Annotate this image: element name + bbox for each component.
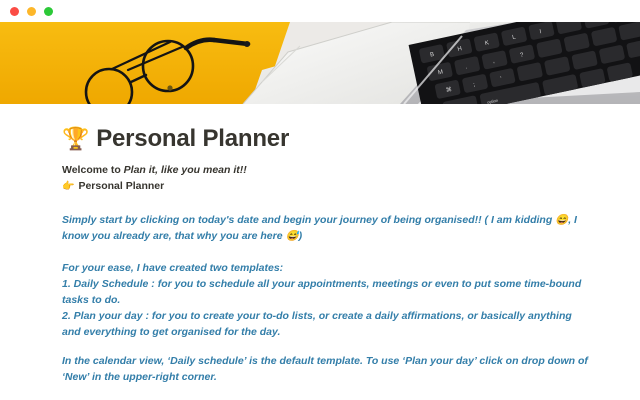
page-cover-image[interactable]: B H K L I M . , ? ⌘ ; ' command option	[0, 22, 640, 104]
minimize-window-icon[interactable]	[27, 7, 36, 16]
close-window-icon[interactable]	[10, 7, 19, 16]
window-titlebar	[0, 0, 640, 22]
page-title[interactable]: 🏆 Personal Planner	[62, 124, 588, 154]
calendar-view-paragraph: In the calendar view, ‘Daily schedule’ i…	[62, 353, 588, 385]
page-content: 🏆 Personal Planner Welcome to Plan it, l…	[0, 104, 640, 400]
window-controls	[10, 7, 53, 16]
cover-illustration: B H K L I M . , ? ⌘ ; ' command option	[0, 22, 640, 104]
sub-page-label: Personal Planner	[78, 179, 164, 194]
template-item-daily-schedule: 1. Daily Schedule : for you to schedule …	[62, 276, 588, 308]
templates-heading-paragraph: For your ease, I have created two templa…	[62, 260, 588, 276]
app-window: B H K L I M . , ? ⌘ ; ' command option	[0, 0, 640, 400]
template-item-plan-your-day: 2. Plan your day : for you to create you…	[62, 308, 588, 340]
welcome-emphasis: Plan it, like you mean it!!	[124, 164, 247, 176]
intro-paragraph: Simply start by clicking on today's date…	[62, 212, 588, 244]
page-title-text: Personal Planner	[96, 124, 289, 154]
trophy-icon[interactable]: 🏆	[62, 128, 89, 150]
pointing-hand-icon: 👉	[62, 179, 74, 194]
maximize-window-icon[interactable]	[44, 7, 53, 16]
welcome-prefix: Welcome to	[62, 164, 124, 176]
welcome-line: Welcome to Plan it, like you mean it!!	[62, 163, 588, 178]
sub-page-link[interactable]: 👉 Personal Planner	[62, 179, 588, 194]
